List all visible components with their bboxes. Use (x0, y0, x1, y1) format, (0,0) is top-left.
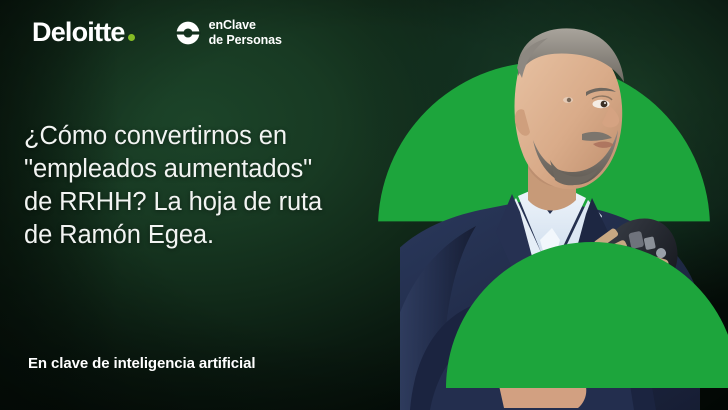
enclave-line-2: de Personas (209, 33, 282, 48)
promo-banner: Deloitte enClave de Personas ¿Cómo conve… (0, 0, 728, 410)
deloitte-wordmark: Deloitte (32, 19, 125, 46)
enclave-logo: enClave de Personas (175, 18, 282, 48)
deloitte-green-dot-icon (128, 34, 135, 41)
tagline: En clave de inteligencia artificial (28, 355, 255, 372)
enclave-wordmark: enClave de Personas (209, 18, 282, 48)
headline-line-3: de RRHH? La hoja de ruta (24, 186, 384, 219)
deloitte-logo: Deloitte (32, 19, 135, 46)
headline-line-4: de Ramón Egea. (24, 219, 384, 252)
logo-row: Deloitte enClave de Personas (32, 18, 282, 48)
headline-line-1: ¿Cómo convertirnos en (24, 120, 384, 153)
enclave-line-1: enClave (209, 18, 282, 33)
enclave-circle-mark-icon (175, 20, 201, 46)
headline: ¿Cómo convertirnos en "empleados aumenta… (24, 120, 384, 253)
headline-line-2: "empleados aumentados" (24, 153, 384, 186)
